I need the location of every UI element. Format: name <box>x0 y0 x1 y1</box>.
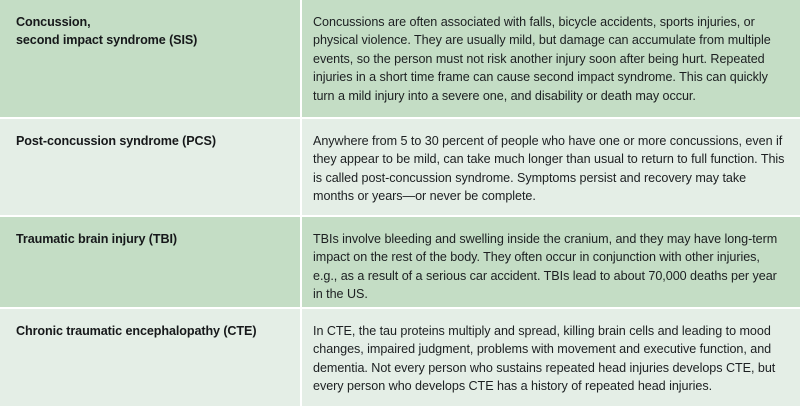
table-cell-description: Concussions are often associated with fa… <box>302 0 800 117</box>
table-cell-term: Post-concussion syndrome (PCS) <box>0 119 302 215</box>
term-label: Chronic traumatic encephalopathy (CTE) <box>16 323 286 341</box>
term-label: Traumatic brain injury (TBI) <box>16 231 286 249</box>
table-cell-description: In CTE, the tau proteins multiply and sp… <box>302 309 800 406</box>
term-label: Concussion, second impact syndrome (SIS) <box>16 14 286 50</box>
description-text: Concussions are often associated with fa… <box>313 13 786 105</box>
table-row: Chronic traumatic encephalopathy (CTE) I… <box>0 309 800 406</box>
table-cell-term: Traumatic brain injury (TBI) <box>0 217 302 307</box>
description-text: Anywhere from 5 to 30 percent of people … <box>313 132 786 206</box>
table-cell-description: TBIs involve bleeding and swelling insid… <box>302 217 800 307</box>
table-row: Concussion, second impact syndrome (SIS)… <box>0 0 800 119</box>
table-cell-term: Chronic traumatic encephalopathy (CTE) <box>0 309 302 406</box>
term-label: Post-concussion syndrome (PCS) <box>16 133 286 151</box>
description-text: In CTE, the tau proteins multiply and sp… <box>313 322 786 396</box>
table-cell-term: Concussion, second impact syndrome (SIS) <box>0 0 302 117</box>
definition-table: Concussion, second impact syndrome (SIS)… <box>0 0 800 406</box>
description-text: TBIs involve bleeding and swelling insid… <box>313 230 786 304</box>
table-cell-description: Anywhere from 5 to 30 percent of people … <box>302 119 800 215</box>
table-row: Traumatic brain injury (TBI) TBIs involv… <box>0 217 800 309</box>
table-row: Post-concussion syndrome (PCS) Anywhere … <box>0 119 800 217</box>
